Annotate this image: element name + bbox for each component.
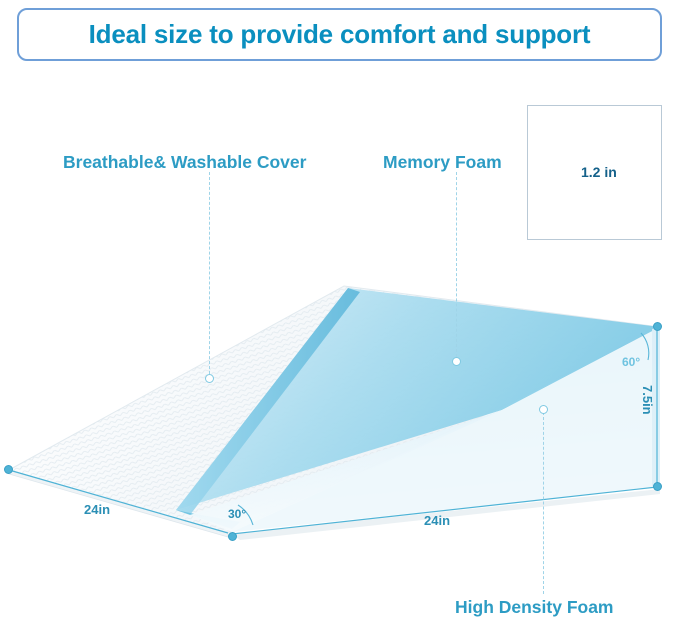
dimension-bottom-angle: 30° <box>228 507 246 521</box>
vertex-dot-bottom <box>228 532 237 541</box>
banner-title: Ideal size to provide comfort and suppor… <box>19 10 660 59</box>
dimension-left-width: 24in <box>84 502 110 517</box>
high-density-foam-front <box>190 327 660 532</box>
vertex-dot-top-right <box>653 322 662 331</box>
leader-line-memory-foam <box>456 172 457 357</box>
anchor-dot-high-density-foam <box>539 405 548 414</box>
callout-memory-foam: Memory Foam <box>383 152 502 173</box>
header-banner: Ideal size to provide comfort and suppor… <box>17 8 662 61</box>
callout-high-density-foam: High Density Foam <box>455 597 614 618</box>
vertex-dot-bottom-right <box>653 482 662 491</box>
breathable-cover-surface <box>9 286 660 533</box>
cover-edge <box>9 470 228 537</box>
memory-foam-top-face <box>176 288 660 510</box>
dimension-right-height: 7.5in <box>640 385 655 415</box>
callout-breathable-cover: Breathable& Washable Cover <box>63 152 306 173</box>
anchor-dot-cover <box>205 374 214 383</box>
angle-arcs <box>238 333 649 525</box>
thickness-label: 1.2 in <box>581 164 617 180</box>
thickness-inset-panel: 1.2 in <box>527 105 662 240</box>
dimension-top-angle: 60° <box>622 355 640 369</box>
anchor-dot-memory-foam <box>452 357 461 366</box>
dimension-bottom-length: 24in <box>424 513 450 528</box>
leader-line-high-density-foam <box>543 412 544 594</box>
memory-foam-edge-strip <box>176 288 360 529</box>
product-illustration <box>0 0 679 626</box>
leader-line-cover <box>209 172 210 374</box>
vertex-dot-left <box>4 465 13 474</box>
